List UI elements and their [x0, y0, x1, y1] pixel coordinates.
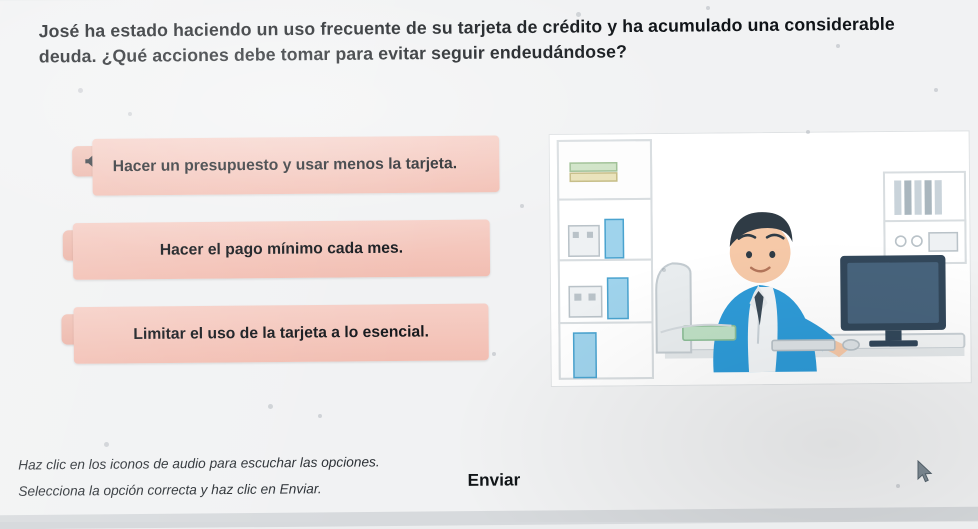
- dust-speck: [104, 442, 109, 447]
- dust-speck: [268, 404, 273, 409]
- dust-speck: [520, 204, 524, 208]
- dust-speck: [896, 484, 900, 488]
- option-button-3[interactable]: Limitar el uso de la tarjeta a lo esenci…: [73, 304, 488, 364]
- option-label-2: Hacer el pago mínimo cada mes.: [87, 238, 476, 262]
- dust-speck: [576, 12, 581, 17]
- option-row-2[interactable]: Hacer el pago mínimo cada mes.: [32, 219, 508, 280]
- bottom-strip: [0, 507, 978, 529]
- dust-speck: [934, 88, 938, 92]
- dust-speck: [662, 268, 666, 272]
- quiz-page: José ha estado haciendo un uso frecuente…: [0, 0, 978, 529]
- option-label-1: Hacer un presupuesto y usar menos la tar…: [107, 154, 458, 177]
- option-button-1[interactable]: Hacer un presupuesto y usar menos la tar…: [92, 135, 499, 195]
- dust-speck: [806, 130, 810, 134]
- illustration-svg: [550, 131, 971, 386]
- man-at-desk-with-computer-illustration: [549, 130, 972, 387]
- option-button-2[interactable]: Hacer el pago mínimo cada mes.: [73, 220, 490, 280]
- dust-speck: [492, 352, 496, 356]
- hints-block: Haz clic en los iconos de audio para esc…: [18, 449, 454, 505]
- dust-speck: [78, 88, 83, 93]
- options-list: Hacer un presupuesto y usar menos la tar…: [32, 135, 510, 391]
- option-row-3[interactable]: Limitar el uso de la tarjeta a lo esenci…: [33, 303, 509, 364]
- submit-button[interactable]: Enviar: [468, 470, 521, 491]
- dust-speck: [318, 414, 322, 418]
- question-text: José ha estado haciendo un uso frecuente…: [39, 11, 950, 69]
- mouse-cursor-icon: [916, 460, 934, 484]
- hint-audio: Haz clic en los iconos de audio para esc…: [18, 449, 453, 479]
- hint-submit: Selecciona la opción correcta y haz clic…: [18, 474, 453, 504]
- option-row-1[interactable]: Hacer un presupuesto y usar menos la tar…: [32, 135, 508, 196]
- dust-speck: [706, 6, 710, 10]
- dust-speck: [836, 44, 840, 48]
- option-label-3: Limitar el uso de la tarjeta a lo esenci…: [88, 322, 475, 346]
- dust-speck: [128, 112, 132, 116]
